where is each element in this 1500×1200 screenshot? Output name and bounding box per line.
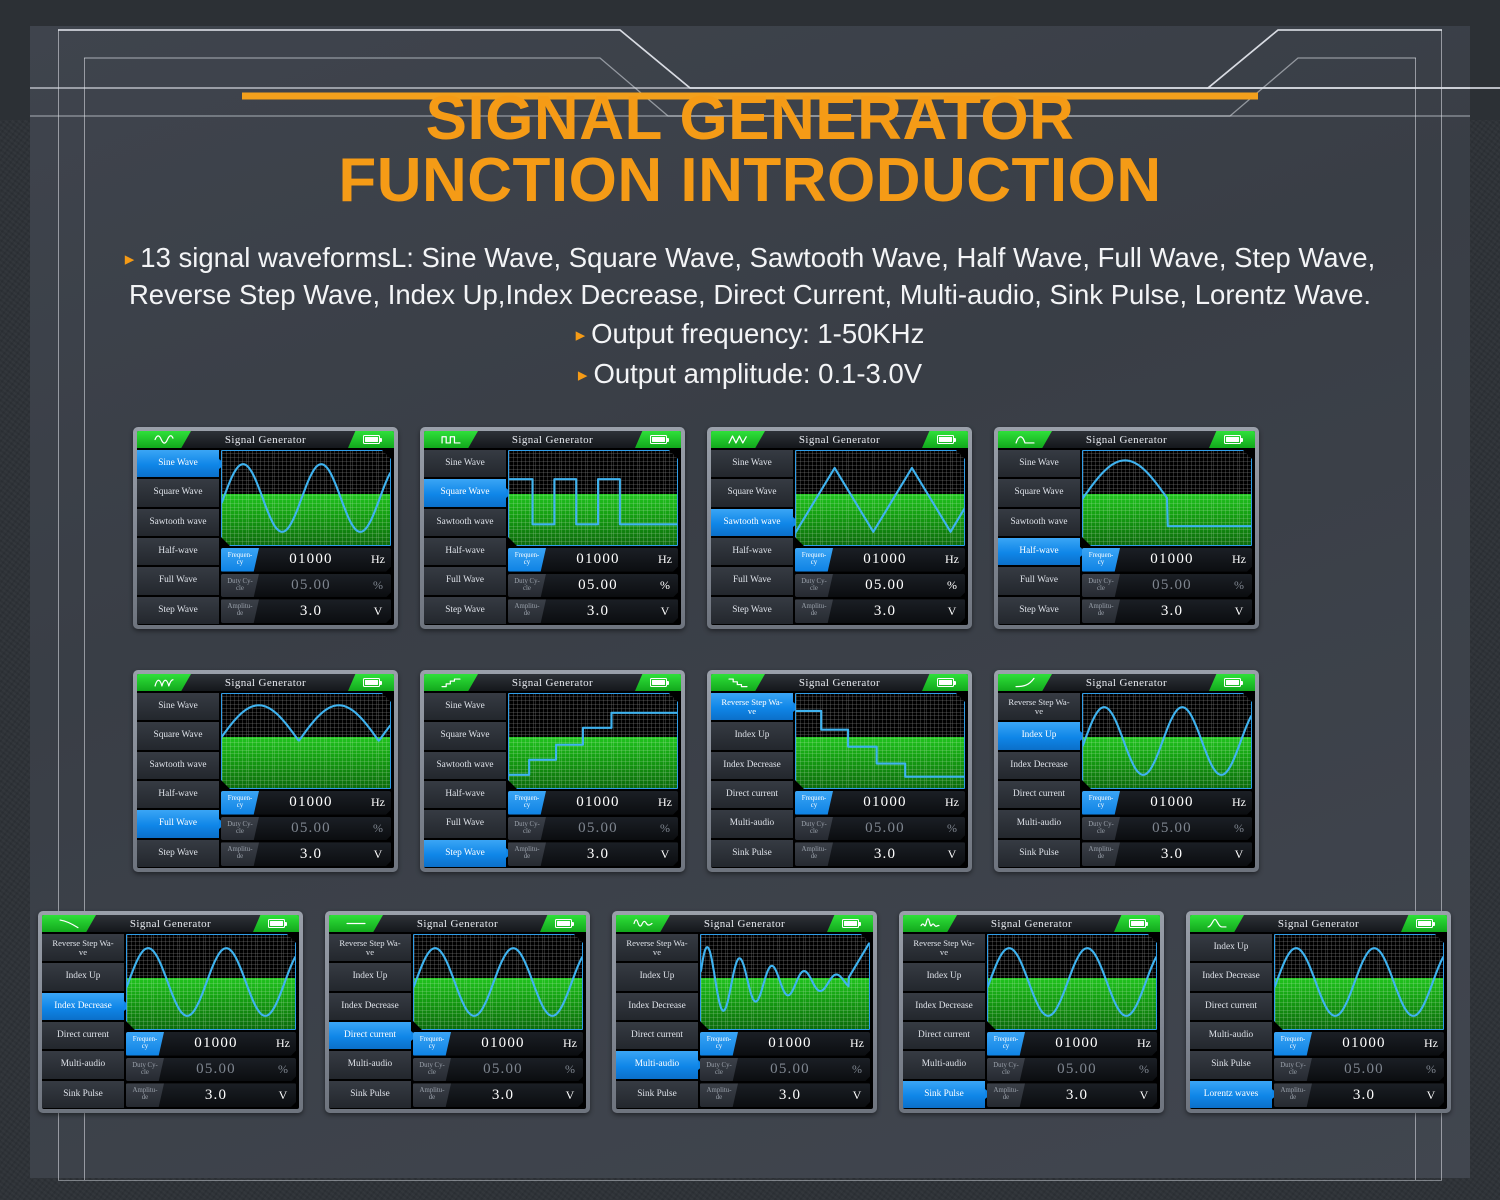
menu-item-half-wave[interactable]: Half-wave: [711, 538, 793, 565]
menu-item-sine-wave[interactable]: Sine Wave: [137, 693, 219, 720]
menu-item-sink-pulse[interactable]: Sink Pulse: [42, 1081, 124, 1108]
battery-indicator: [348, 674, 394, 691]
frequency-label: Frequen-cy: [221, 791, 259, 815]
duty-cycle-value: 05.00: [451, 1061, 557, 1078]
duty-cycle-unit: %: [1226, 821, 1252, 836]
device-panel-index-decrease[interactable]: Signal GeneratorReverse Step Wa-veIndex …: [38, 911, 303, 1113]
device-panel-lorentz[interactable]: Signal GeneratorIndex UpIndex DecreaseDi…: [1186, 911, 1451, 1113]
frequency-unit: Hz: [939, 795, 965, 810]
frequency-unit: Hz: [844, 1036, 870, 1051]
screen-body: Sine WaveSquare WaveSawtooth waveHalf-wa…: [711, 448, 968, 625]
device-panel-sine[interactable]: Signal GeneratorSine WaveSquare WaveSawt…: [133, 427, 398, 629]
waveform-trace: [1083, 694, 1251, 788]
device-screen: Signal GeneratorSine WaveSquare WaveSawt…: [424, 674, 681, 868]
frequency-value: 01000: [833, 794, 939, 811]
menu-item-index-up[interactable]: Index Up: [903, 963, 985, 990]
amplitude-unit: V: [1226, 847, 1252, 862]
frequency-unit: Hz: [1418, 1036, 1444, 1051]
amplitude-value: 3.0: [546, 603, 652, 620]
device-screen: Signal GeneratorSine WaveSquare WaveSawt…: [711, 431, 968, 625]
screen-header: Signal Generator: [998, 674, 1255, 691]
amplitude-unit: V: [1226, 604, 1252, 619]
device-screen: Signal GeneratorSine WaveSquare WaveSawt…: [137, 674, 394, 868]
screen-right-column: Frequen-cy01000HzDuty Cy-cle05.00%Amplit…: [219, 448, 394, 625]
param-row-frequency[interactable]: Frequen-cy01000Hz: [1082, 548, 1252, 572]
menu-item-full-wave[interactable]: Full Wave: [998, 567, 1080, 594]
duty-cycle-value: 05.00: [164, 1061, 270, 1078]
menu-item-sawtooth-wave[interactable]: Sawtooth wave: [998, 509, 1080, 536]
menu-item-half-wave[interactable]: Half-wave: [424, 538, 506, 565]
screen-body: Sine WaveSquare WaveSawtooth waveHalf-wa…: [424, 448, 681, 625]
menu-item-sawtooth-wave[interactable]: Sawtooth wave: [137, 752, 219, 779]
waveform-plot: [1082, 450, 1252, 546]
frequency-label: Frequen-cy: [126, 1032, 164, 1056]
screen-body: Reverse Step Wa-veIndex UpIndex Decrease…: [42, 932, 299, 1109]
menu-item-index-decrease[interactable]: Index Decrease: [1190, 963, 1272, 990]
device-screen: Signal GeneratorReverse Step Wa-veIndex …: [711, 674, 968, 868]
menu-item-sine-wave[interactable]: Sine Wave: [998, 450, 1080, 477]
param-row-frequency[interactable]: Frequen-cy01000Hz: [508, 548, 678, 572]
menu-item-direct-current[interactable]: Direct current: [1190, 993, 1272, 1020]
frequency-value: 01000: [259, 551, 365, 568]
frequency-value: 01000: [1312, 1035, 1418, 1052]
duty-cycle-value: 05.00: [259, 820, 365, 837]
menu-item-multi-audio[interactable]: Multi-audio: [903, 1051, 985, 1078]
menu-item-sink-pulse[interactable]: Sink Pulse: [329, 1081, 411, 1108]
amplitude-unit: V: [1418, 1088, 1444, 1103]
page-title: SIGNAL GENERATOR FUNCTION INTRODUCTION: [0, 88, 1500, 212]
menu-item-index-decrease[interactable]: Index Decrease: [42, 993, 124, 1020]
device-panel-reverse-step[interactable]: Signal GeneratorReverse Step Wa-veIndex …: [707, 670, 972, 872]
waveform-trace: [222, 694, 390, 788]
frequency-label: Frequen-cy: [987, 1032, 1025, 1056]
menu-item-sine-wave[interactable]: Sine Wave: [711, 450, 793, 477]
param-row-frequency[interactable]: Frequen-cy01000Hz: [221, 791, 391, 815]
duty-cycle-unit: %: [1226, 578, 1252, 593]
waveform-plot: [987, 934, 1157, 1030]
waveform-plot: [795, 693, 965, 789]
amplitude-unit: V: [270, 1088, 296, 1103]
bullet-item-waveforms-line2: Reverse Step Wave, Index Up,Index Decrea…: [0, 277, 1500, 312]
param-row-frequency[interactable]: Frequen-cy01000Hz: [413, 1032, 583, 1056]
param-row-amplitude[interactable]: Amplitu-de3.0V: [508, 599, 678, 623]
menu-item-square-wave[interactable]: Square Wave: [711, 479, 793, 506]
waveform-trace: [796, 694, 964, 788]
duty-cycle-label: Duty Cy-cle: [221, 574, 259, 598]
frequency-unit: Hz: [365, 795, 391, 810]
menu-item-reverse-step-wa-ve[interactable]: Reverse Step Wa-ve: [711, 693, 793, 720]
waveform-trace: [988, 935, 1156, 1029]
amplitude-unit: V: [1131, 1088, 1157, 1103]
menu-item-sink-pulse[interactable]: Sink Pulse: [903, 1081, 985, 1108]
device-panel-multi-audio[interactable]: Signal GeneratorReverse Step Wa-veIndex …: [612, 911, 877, 1113]
screen-body: Index UpIndex DecreaseDirect currentMult…: [1190, 932, 1447, 1109]
bullet-item-waveforms-line1: ▸13 signal waveformsL: Sine Wave, Square…: [0, 240, 1500, 275]
param-row-duty-cycle[interactable]: Duty Cy-cle05.00%: [1274, 1058, 1444, 1082]
device-row-2: Signal GeneratorSine WaveSquare WaveSawt…: [133, 670, 1259, 872]
screen-right-column: Frequen-cy01000HzDuty Cy-cle05.00%Amplit…: [793, 448, 968, 625]
device-screen: Signal GeneratorReverse Step Wa-veIndex …: [998, 674, 1255, 868]
param-row-duty-cycle[interactable]: Duty Cy-cle05.00%: [508, 574, 678, 598]
screen-right-column: Frequen-cy01000HzDuty Cy-cle05.00%Amplit…: [124, 932, 299, 1109]
screen-body: Sine WaveSquare WaveSawtooth waveHalf-wa…: [137, 691, 394, 868]
screen-header: Signal Generator: [137, 431, 394, 448]
menu-item-index-decrease[interactable]: Index Decrease: [711, 752, 793, 779]
battery-indicator: [1209, 431, 1255, 448]
waveform-trace: [509, 451, 677, 545]
menu-item-square-wave[interactable]: Square Wave: [998, 479, 1080, 506]
device-panel-direct-current[interactable]: Signal GeneratorReverse Step Wa-veIndex …: [325, 911, 590, 1113]
menu-item-square-wave[interactable]: Square Wave: [137, 722, 219, 749]
amplitude-label: Amplitu-de: [987, 1083, 1025, 1107]
menu-item-multi-audio[interactable]: Multi-audio: [42, 1051, 124, 1078]
amplitude-value: 3.0: [738, 1087, 844, 1104]
menu-item-full-wave[interactable]: Full Wave: [424, 810, 506, 837]
menu-item-direct-current[interactable]: Direct current: [711, 781, 793, 808]
screen-body: Sine WaveSquare WaveSawtooth waveHalf-wa…: [998, 448, 1255, 625]
device-screen: Signal GeneratorReverse Step Wa-veIndex …: [329, 915, 586, 1109]
menu-item-multi-audio[interactable]: Multi-audio: [711, 810, 793, 837]
duty-cycle-label: Duty Cy-cle: [126, 1058, 164, 1082]
bullet-marker-icon: ▸: [125, 249, 135, 270]
duty-cycle-value: 05.00: [546, 820, 652, 837]
screen-header: Signal Generator: [424, 674, 681, 691]
menu-item-sawtooth-wave[interactable]: Sawtooth wave: [711, 509, 793, 536]
param-row-frequency[interactable]: Frequen-cy01000Hz: [1274, 1032, 1444, 1056]
menu-item-sawtooth-wave[interactable]: Sawtooth wave: [424, 752, 506, 779]
waveform-trace: [1083, 451, 1251, 545]
menu-item-sawtooth-wave[interactable]: Sawtooth wave: [424, 509, 506, 536]
menu-item-step-wave[interactable]: Step Wave: [137, 840, 219, 867]
duty-cycle-value: 05.00: [1120, 820, 1226, 837]
amplitude-unit: V: [557, 1088, 583, 1103]
battery-full-icon: [1224, 678, 1241, 687]
menu-item-step-wave[interactable]: Step Wave: [424, 840, 506, 867]
device-panel-square[interactable]: Signal GeneratorSine WaveSquare WaveSawt…: [420, 427, 685, 629]
param-row-frequency[interactable]: Frequen-cy01000Hz: [795, 548, 965, 572]
battery-indicator: [1209, 674, 1255, 691]
menu-item-direct-current[interactable]: Direct current: [329, 1022, 411, 1049]
device-screen: Signal GeneratorSine WaveSquare WaveSawt…: [137, 431, 394, 625]
screen-header: Signal Generator: [998, 431, 1255, 448]
waveform-trace: [1275, 935, 1443, 1029]
param-row-frequency[interactable]: Frequen-cy01000Hz: [987, 1032, 1157, 1056]
menu-item-step-wave[interactable]: Step Wave: [998, 597, 1080, 624]
battery-full-icon: [555, 919, 572, 928]
frequency-value: 01000: [164, 1035, 270, 1052]
battery-indicator: [922, 674, 968, 691]
menu-item-direct-current[interactable]: Direct current: [42, 1022, 124, 1049]
param-row-amplitude[interactable]: Amplitu-de3.0V: [795, 842, 965, 866]
amplitude-label: Amplitu-de: [508, 599, 546, 623]
menu-item-index-up[interactable]: Index Up: [711, 722, 793, 749]
param-row-frequency[interactable]: Frequen-cy01000Hz: [126, 1032, 296, 1056]
waveform-plot: [508, 693, 678, 789]
waveform-plot: [795, 450, 965, 546]
menu-item-multi-audio[interactable]: Multi-audio: [329, 1051, 411, 1078]
duty-cycle-label: Duty Cy-cle: [795, 574, 833, 598]
menu-item-sink-pulse[interactable]: Sink Pulse: [1190, 1051, 1272, 1078]
device-screen: Signal GeneratorReverse Step Wa-veIndex …: [616, 915, 873, 1109]
device-panel-step-wave[interactable]: Signal GeneratorSine WaveSquare WaveSawt…: [420, 670, 685, 872]
waveform-trace: [127, 935, 295, 1029]
param-row-frequency[interactable]: Frequen-cy01000Hz: [795, 791, 965, 815]
menu-item-half-wave[interactable]: Half-wave: [998, 538, 1080, 565]
screen-body: Sine WaveSquare WaveSawtooth waveHalf-wa…: [424, 691, 681, 868]
menu-item-reverse-step-wa-ve[interactable]: Reverse Step Wa-ve: [329, 934, 411, 961]
duty-cycle-value: 05.00: [259, 577, 365, 594]
frame-line-bottom-outer: [58, 1180, 1442, 1181]
waveform-trace: [509, 694, 677, 788]
bullet-text-4: Output amplitude: 0.1-3.0V: [593, 358, 922, 389]
param-row-duty-cycle[interactable]: Duty Cy-cle05.00%: [1082, 574, 1252, 598]
amplitude-label: Amplitu-de: [221, 599, 259, 623]
menu-item-square-wave[interactable]: Square Wave: [424, 722, 506, 749]
param-row-amplitude[interactable]: Amplitu-de3.0V: [795, 599, 965, 623]
frequency-label: Frequen-cy: [795, 791, 833, 815]
frequency-value: 01000: [1120, 551, 1226, 568]
duty-cycle-unit: %: [652, 821, 678, 836]
screen-header: Signal Generator: [616, 915, 873, 932]
screen-body: Reverse Step Wa-veIndex UpIndex Decrease…: [711, 691, 968, 868]
menu-item-reverse-step-wa-ve[interactable]: Reverse Step Wa-ve: [616, 934, 698, 961]
menu-item-full-wave[interactable]: Full Wave: [711, 567, 793, 594]
screen-body: Sine WaveSquare WaveSawtooth waveHalf-wa…: [137, 448, 394, 625]
frequency-label: Frequen-cy: [1274, 1032, 1312, 1056]
waveform-plot: [508, 450, 678, 546]
amplitude-label: Amplitu-de: [700, 1083, 738, 1107]
frequency-unit: Hz: [557, 1036, 583, 1051]
param-row-duty-cycle[interactable]: Duty Cy-cle05.00%: [795, 574, 965, 598]
menu-item-index-up[interactable]: Index Up: [616, 963, 698, 990]
duty-cycle-label: Duty Cy-cle: [413, 1058, 451, 1082]
waveform-menu: Index UpIndex DecreaseDirect currentMult…: [1190, 932, 1272, 1109]
duty-cycle-value: 05.00: [833, 820, 939, 837]
screen-header: Signal Generator: [711, 431, 968, 448]
frequency-unit: Hz: [652, 552, 678, 567]
param-row-duty-cycle[interactable]: Duty Cy-cle05.00%: [413, 1058, 583, 1082]
param-row-duty-cycle[interactable]: Duty Cy-cle05.00%: [221, 574, 391, 598]
amplitude-label: Amplitu-de: [1082, 842, 1120, 866]
menu-item-reverse-step-wa-ve[interactable]: Reverse Step Wa-ve: [903, 934, 985, 961]
duty-cycle-label: Duty Cy-cle: [795, 817, 833, 841]
screen-body: Reverse Step Wa-veIndex UpIndex Decrease…: [903, 932, 1160, 1109]
duty-cycle-label: Duty Cy-cle: [508, 817, 546, 841]
duty-cycle-label: Duty Cy-cle: [700, 1058, 738, 1082]
battery-indicator: [540, 915, 586, 932]
menu-item-index-decrease[interactable]: Index Decrease: [998, 752, 1080, 779]
frequency-unit: Hz: [1226, 552, 1252, 567]
battery-indicator: [253, 915, 299, 932]
waveform-menu: Sine WaveSquare WaveSawtooth waveHalf-wa…: [424, 448, 506, 625]
menu-item-index-up[interactable]: Index Up: [329, 963, 411, 990]
amplitude-value: 3.0: [1312, 1087, 1418, 1104]
screen-right-column: Frequen-cy01000HzDuty Cy-cle05.00%Amplit…: [1080, 448, 1255, 625]
param-row-duty-cycle[interactable]: Duty Cy-cle05.00%: [1082, 817, 1252, 841]
menu-item-index-decrease[interactable]: Index Decrease: [616, 993, 698, 1020]
duty-cycle-unit: %: [365, 578, 391, 593]
device-row-3: Signal GeneratorReverse Step Wa-veIndex …: [38, 911, 1451, 1113]
menu-item-sink-pulse[interactable]: Sink Pulse: [711, 840, 793, 867]
device-panel-full-wave[interactable]: Signal GeneratorSine WaveSquare WaveSawt…: [133, 670, 398, 872]
device-panel-half-wave[interactable]: Signal GeneratorSine WaveSquare WaveSawt…: [994, 427, 1259, 629]
screen-right-column: Frequen-cy01000HzDuty Cy-cle05.00%Amplit…: [698, 932, 873, 1109]
menu-item-sine-wave[interactable]: Sine Wave: [424, 693, 506, 720]
battery-full-icon: [363, 678, 380, 687]
menu-item-sink-pulse[interactable]: Sink Pulse: [616, 1081, 698, 1108]
menu-item-direct-current[interactable]: Direct current: [903, 1022, 985, 1049]
param-row-amplitude[interactable]: Amplitu-de3.0V: [1082, 599, 1252, 623]
menu-item-step-wave[interactable]: Step Wave: [711, 597, 793, 624]
param-row-frequency[interactable]: Frequen-cy01000Hz: [700, 1032, 870, 1056]
frequency-unit: Hz: [652, 795, 678, 810]
param-row-frequency[interactable]: Frequen-cy01000Hz: [508, 791, 678, 815]
duty-cycle-label: Duty Cy-cle: [221, 817, 259, 841]
menu-item-sawtooth-wave[interactable]: Sawtooth wave: [137, 509, 219, 536]
amplitude-unit: V: [844, 1088, 870, 1103]
amplitude-label: Amplitu-de: [508, 842, 546, 866]
menu-item-index-up[interactable]: Index Up: [42, 963, 124, 990]
param-row-amplitude[interactable]: Amplitu-de3.0V: [126, 1083, 296, 1107]
param-row-amplitude[interactable]: Amplitu-de3.0V: [413, 1083, 583, 1107]
feature-bullet-list: ▸13 signal waveformsL: Sine Wave, Square…: [0, 240, 1500, 391]
menu-item-multi-audio[interactable]: Multi-audio: [998, 810, 1080, 837]
menu-item-half-wave[interactable]: Half-wave: [137, 538, 219, 565]
amplitude-value: 3.0: [1120, 846, 1226, 863]
param-row-amplitude[interactable]: Amplitu-de3.0V: [508, 842, 678, 866]
menu-item-index-decrease[interactable]: Index Decrease: [903, 993, 985, 1020]
duty-cycle-label: Duty Cy-cle: [508, 574, 546, 598]
frequency-value: 01000: [546, 551, 652, 568]
param-row-duty-cycle[interactable]: Duty Cy-cle05.00%: [126, 1058, 296, 1082]
menu-item-index-up[interactable]: Index Up: [1190, 934, 1272, 961]
waveform-menu: Reverse Step Wa-veIndex UpIndex Decrease…: [903, 932, 985, 1109]
menu-item-reverse-step-wa-ve[interactable]: Reverse Step Wa-ve: [42, 934, 124, 961]
amplitude-value: 3.0: [1025, 1087, 1131, 1104]
menu-item-multi-audio[interactable]: Multi-audio: [616, 1051, 698, 1078]
menu-item-multi-audio[interactable]: Multi-audio: [1190, 1022, 1272, 1049]
waveform-menu: Sine WaveSquare WaveSawtooth waveHalf-wa…: [998, 448, 1080, 625]
menu-item-lorentz-waves[interactable]: Lorentz waves: [1190, 1081, 1272, 1108]
param-row-amplitude[interactable]: Amplitu-de3.0V: [221, 599, 391, 623]
menu-item-square-wave[interactable]: Square Wave: [137, 479, 219, 506]
menu-item-square-wave[interactable]: Square Wave: [424, 479, 506, 506]
param-row-amplitude[interactable]: Amplitu-de3.0V: [1274, 1083, 1444, 1107]
frequency-value: 01000: [1025, 1035, 1131, 1052]
duty-cycle-unit: %: [365, 821, 391, 836]
device-screen: Signal GeneratorIndex UpIndex DecreaseDi…: [1190, 915, 1447, 1109]
device-panel-sawtooth[interactable]: Signal GeneratorSine WaveSquare WaveSawt…: [707, 427, 972, 629]
waveform-menu: Reverse Step Wa-veIndex UpIndex Decrease…: [42, 932, 124, 1109]
bullet-item-amplitude: ▸Output amplitude: 0.1-3.0V: [0, 356, 1500, 391]
battery-full-icon: [1129, 919, 1146, 928]
param-row-amplitude[interactable]: Amplitu-de3.0V: [700, 1083, 870, 1107]
param-row-duty-cycle[interactable]: Duty Cy-cle05.00%: [508, 817, 678, 841]
param-row-frequency[interactable]: Frequen-cy01000Hz: [221, 548, 391, 572]
amplitude-unit: V: [365, 604, 391, 619]
frequency-unit: Hz: [1131, 1036, 1157, 1051]
frequency-unit: Hz: [1226, 795, 1252, 810]
menu-item-full-wave[interactable]: Full Wave: [424, 567, 506, 594]
screen-body: Reverse Step Wa-veIndex UpIndex Decrease…: [616, 932, 873, 1109]
screen-header: Signal Generator: [424, 431, 681, 448]
device-panel-index-up[interactable]: Signal GeneratorReverse Step Wa-veIndex …: [994, 670, 1259, 872]
menu-item-full-wave[interactable]: Full Wave: [137, 567, 219, 594]
bullet-text-3: Output frequency: 1-50KHz: [591, 318, 924, 349]
frequency-label: Frequen-cy: [221, 548, 259, 572]
menu-item-half-wave[interactable]: Half-wave: [424, 781, 506, 808]
param-row-amplitude[interactable]: Amplitu-de3.0V: [221, 842, 391, 866]
battery-full-icon: [650, 435, 667, 444]
waveform-menu: Sine WaveSquare WaveSawtooth waveHalf-wa…: [137, 691, 219, 868]
duty-cycle-label: Duty Cy-cle: [1082, 574, 1120, 598]
menu-item-sine-wave[interactable]: Sine Wave: [137, 450, 219, 477]
device-screen: Signal GeneratorReverse Step Wa-veIndex …: [903, 915, 1160, 1109]
device-screen: Signal GeneratorReverse Step Wa-veIndex …: [42, 915, 299, 1109]
frequency-label: Frequen-cy: [1082, 548, 1120, 572]
param-row-duty-cycle[interactable]: Duty Cy-cle05.00%: [987, 1058, 1157, 1082]
amplitude-value: 3.0: [546, 846, 652, 863]
duty-cycle-value: 05.00: [546, 577, 652, 594]
menu-item-sine-wave[interactable]: Sine Wave: [424, 450, 506, 477]
frequency-unit: Hz: [365, 552, 391, 567]
waveform-menu: Reverse Step Wa-veIndex UpIndex Decrease…: [711, 691, 793, 868]
param-row-duty-cycle[interactable]: Duty Cy-cle05.00%: [795, 817, 965, 841]
menu-item-index-up[interactable]: Index Up: [998, 722, 1080, 749]
device-panel-sink-pulse[interactable]: Signal GeneratorReverse Step Wa-veIndex …: [899, 911, 1164, 1113]
duty-cycle-value: 05.00: [1120, 577, 1226, 594]
param-row-amplitude[interactable]: Amplitu-de3.0V: [987, 1083, 1157, 1107]
screen-header: Signal Generator: [137, 674, 394, 691]
battery-full-icon: [1224, 435, 1241, 444]
frequency-label: Frequen-cy: [700, 1032, 738, 1056]
param-row-duty-cycle[interactable]: Duty Cy-cle05.00%: [700, 1058, 870, 1082]
menu-item-sink-pulse[interactable]: Sink Pulse: [998, 840, 1080, 867]
frequency-label: Frequen-cy: [508, 548, 546, 572]
menu-item-reverse-step-wa-ve[interactable]: Reverse Step Wa-ve: [998, 693, 1080, 720]
screen-right-column: Frequen-cy01000HzDuty Cy-cle05.00%Amplit…: [411, 932, 586, 1109]
param-row-amplitude[interactable]: Amplitu-de3.0V: [1082, 842, 1252, 866]
screen-right-column: Frequen-cy01000HzDuty Cy-cle05.00%Amplit…: [793, 691, 968, 868]
frequency-value: 01000: [738, 1035, 844, 1052]
waveform-trace: [701, 935, 869, 1029]
frequency-label: Frequen-cy: [1082, 791, 1120, 815]
frequency-label: Frequen-cy: [413, 1032, 451, 1056]
waveform-trace: [796, 451, 964, 545]
duty-cycle-value: 05.00: [1312, 1061, 1418, 1078]
duty-cycle-unit: %: [652, 578, 678, 593]
battery-full-icon: [650, 678, 667, 687]
param-row-duty-cycle[interactable]: Duty Cy-cle05.00%: [221, 817, 391, 841]
duty-cycle-value: 05.00: [833, 577, 939, 594]
page-title-line1: SIGNAL GENERATOR: [0, 88, 1500, 150]
battery-indicator: [1401, 915, 1447, 932]
menu-item-full-wave[interactable]: Full Wave: [137, 810, 219, 837]
menu-item-half-wave[interactable]: Half-wave: [137, 781, 219, 808]
duty-cycle-unit: %: [557, 1062, 583, 1077]
menu-item-index-decrease[interactable]: Index Decrease: [329, 993, 411, 1020]
menu-item-direct-current[interactable]: Direct current: [998, 781, 1080, 808]
waveform-menu: Reverse Step Wa-veIndex UpIndex Decrease…: [616, 932, 698, 1109]
menu-item-direct-current[interactable]: Direct current: [616, 1022, 698, 1049]
duty-cycle-label: Duty Cy-cle: [1082, 817, 1120, 841]
amplitude-value: 3.0: [164, 1087, 270, 1104]
menu-item-step-wave[interactable]: Step Wave: [424, 597, 506, 624]
screen-right-column: Frequen-cy01000HzDuty Cy-cle05.00%Amplit…: [1272, 932, 1447, 1109]
duty-cycle-unit: %: [844, 1062, 870, 1077]
menu-item-step-wave[interactable]: Step Wave: [137, 597, 219, 624]
param-row-frequency[interactable]: Frequen-cy01000Hz: [1082, 791, 1252, 815]
